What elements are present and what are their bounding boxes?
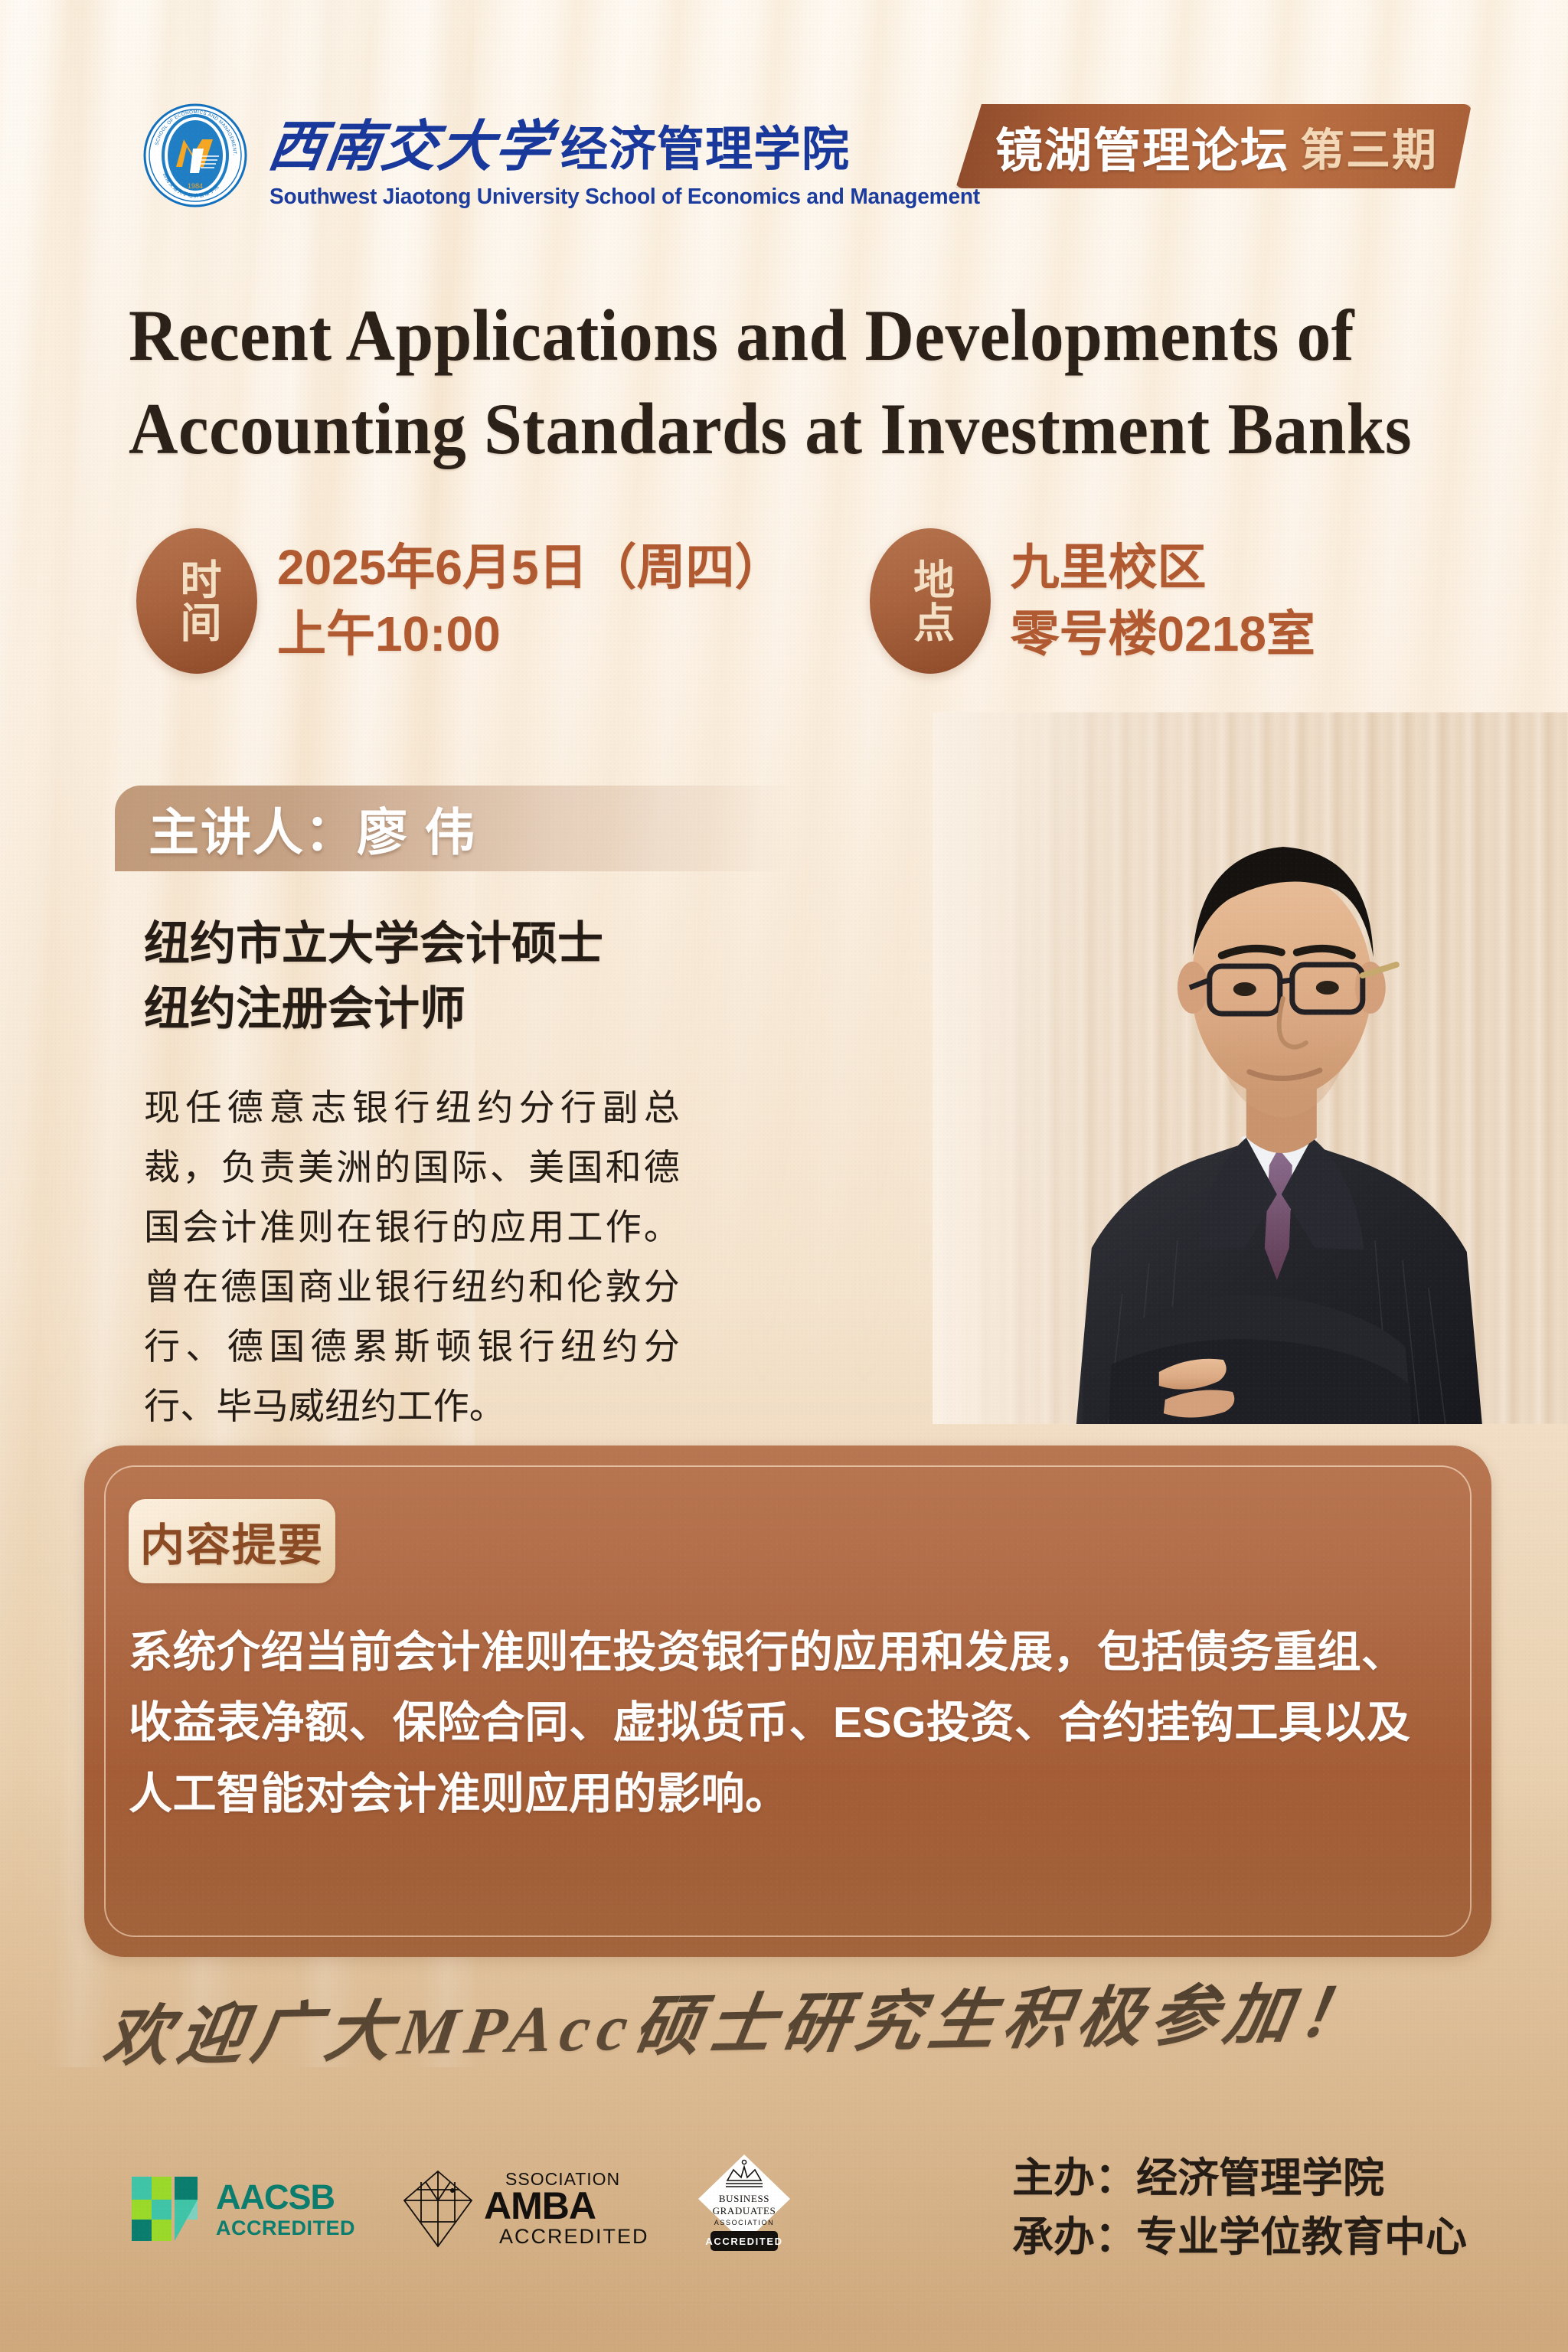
speaker-name-banner: 主讲人：廖 伟 bbox=[115, 786, 789, 871]
speaker-portrait-illustration bbox=[977, 712, 1559, 1424]
event-time-block: 时间 2025年6月5日（周四） 上午10:00 bbox=[136, 528, 784, 674]
time-line-1: 2025年6月5日（周四） bbox=[277, 534, 784, 601]
university-name-cn-brush: 西南交大学 bbox=[264, 101, 559, 181]
event-meta: 时间 2025年6月5日（周四） 上午10:00 地点 九里校区 零号楼0218… bbox=[136, 528, 1507, 674]
university-logo-lockup: 1984 SCHOOL OF ECONOMICS AND MANAGEMENT,… bbox=[142, 101, 991, 210]
event-place-block: 地点 九里校区 零号楼0218室 bbox=[870, 528, 1315, 674]
amba-name: AMBA bbox=[484, 2187, 649, 2225]
time-label-pill: 时间 bbox=[136, 528, 257, 674]
university-name-en: Southwest Jiaotong University School of … bbox=[269, 185, 980, 210]
forum-name: 镜湖管理论坛 bbox=[995, 112, 1289, 181]
aacsb-name: AACSB bbox=[216, 2180, 355, 2214]
bga-line-1: BUSINESS bbox=[718, 2193, 769, 2204]
aacsb-mark-icon bbox=[129, 2172, 202, 2246]
bga-line-3: ASSOCIATION bbox=[714, 2219, 773, 2226]
place-value: 九里校区 零号楼0218室 bbox=[1011, 534, 1315, 668]
speaker-name-label: 主讲人：廖 伟 bbox=[149, 792, 476, 865]
summary-label-chip: 内容提要 bbox=[129, 1499, 335, 1583]
bga-diamond-icon: BUSINESS GRADUATES ASSOCIATION ACCREDITE… bbox=[694, 2151, 795, 2266]
school-name-cn: 经济管理学院 bbox=[560, 110, 850, 179]
bga-line-2: GRADUATES bbox=[712, 2205, 776, 2216]
amba-accredited: ACCREDITED bbox=[499, 2226, 649, 2247]
amba-diamond-icon bbox=[400, 2167, 476, 2251]
forum-issue: 第三期 bbox=[1300, 114, 1438, 178]
poster-root: 1984 SCHOOL OF ECONOMICS AND MANAGEMENT,… bbox=[0, 0, 1568, 2352]
speaker-credentials: 纽约市立大学会计硕士 纽约注册会计师 bbox=[144, 911, 603, 1041]
lecture-title-line-1: Recent Applications and Developments of bbox=[129, 289, 1410, 383]
organizer-block: 主办：经济管理学院 承办：专业学位教育中心 bbox=[1012, 2149, 1467, 2269]
place-line-2: 零号楼0218室 bbox=[1011, 601, 1315, 668]
invitation-slogan: 欢迎广大MPAcc硕士研究生积极参加！ bbox=[98, 1957, 1488, 2079]
lecture-title-line-2: Accounting Standards at Investment Banks bbox=[129, 383, 1410, 476]
bga-accredited: ACCREDITED bbox=[705, 2236, 782, 2247]
poster-footer: AACSB ACCREDITED bbox=[0, 2115, 1568, 2352]
aacsb-logo: AACSB ACCREDITED bbox=[129, 2172, 355, 2246]
accreditation-logos: AACSB ACCREDITED bbox=[129, 2151, 795, 2266]
aacsb-accredited: ACCREDITED bbox=[216, 2218, 355, 2239]
speaker-credential-line-1: 纽约市立大学会计硕士 bbox=[144, 911, 603, 976]
swjtu-sem-seal-icon: 1984 SCHOOL OF ECONOMICS AND MANAGEMENT,… bbox=[142, 103, 248, 208]
co-organizer-line: 承办：专业学位教育中心 bbox=[1012, 2208, 1467, 2268]
place-label-pill: 地点 bbox=[870, 528, 991, 674]
bga-logo: BUSINESS GRADUATES ASSOCIATION ACCREDITE… bbox=[694, 2151, 795, 2266]
university-name-block: 西南交大学 经济管理学院 Southwest Jiaotong Universi… bbox=[269, 101, 991, 210]
organizer-line: 主办：经济管理学院 bbox=[1012, 2149, 1467, 2209]
speaker-bio: 现任德意志银行纽约分行副总裁，负责美洲的国际、美国和德国会计准则在银行的应用工作… bbox=[144, 1078, 680, 1436]
svg-text:1984: 1984 bbox=[188, 182, 203, 190]
place-line-1: 九里校区 bbox=[1011, 534, 1315, 601]
place-label: 地点 bbox=[910, 558, 951, 644]
forum-series-badge: 镜湖管理论坛 第三期 bbox=[955, 104, 1472, 188]
time-line-2: 上午10:00 bbox=[277, 601, 784, 668]
speaker-photo bbox=[933, 712, 1568, 1424]
summary-label: 内容提要 bbox=[140, 1509, 324, 1573]
amba-text: SSOCIATION AMBA ACCREDITED bbox=[484, 2171, 649, 2247]
summary-body: 系统介绍当前会计准则在投资银行的应用和发展，包括债务重组、收益表净额、保险合同、… bbox=[129, 1617, 1415, 1829]
time-value: 2025年6月5日（周四） 上午10:00 bbox=[277, 534, 784, 668]
aacsb-text: AACSB ACCREDITED bbox=[216, 2180, 355, 2239]
speaker-credential-line-2: 纽约注册会计师 bbox=[144, 976, 603, 1041]
lecture-title: Recent Applications and Developments of … bbox=[129, 289, 1410, 475]
amba-logo: SSOCIATION AMBA ACCREDITED bbox=[400, 2167, 649, 2251]
time-label: 时间 bbox=[176, 558, 217, 644]
